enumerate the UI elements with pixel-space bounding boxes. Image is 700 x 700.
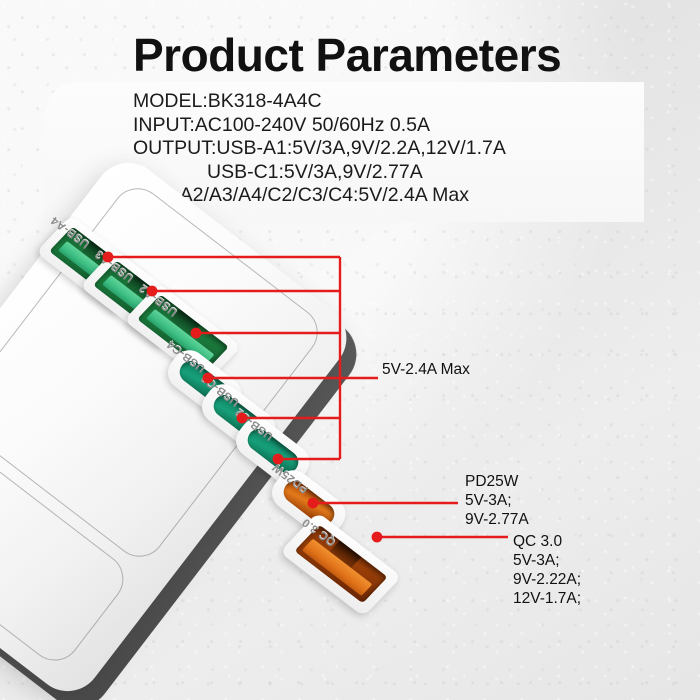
spec-line-model: MODEL:BK318-4A4C [133,90,653,114]
callout-qc30-line-2: 9V-2.22A; [513,570,581,589]
charger-device: USB-A4 USB-A3 USB-A2 USB-C4 USB-C3 USB-C… [0,190,700,700]
callout-pd25w: PD25W 5V-3A; 9V-2.77A [465,472,529,529]
callout-shared-max-line: 5V-2.4A Max [382,360,470,379]
callout-pd25w-line-2: 9V-2.77A [465,510,529,529]
port-qc30[interactable] [294,525,387,604]
spec-line-output: OUTPUT:USB-A1:5V/3A,9V/2.2A,12V/1.7A [133,137,653,161]
callout-qc30: QC 3.0 5V-3A; 9V-2.22A; 12V-1.7A; [513,532,581,608]
callout-shared-max: 5V-2.4A Max [382,360,470,379]
spec-line-usb-c1: USB-C1:5V/3A,9V/2.77A [133,161,653,185]
page-title: Product Parameters [133,28,561,82]
callout-pd25w-title: PD25W [465,472,529,491]
product-parameters-image: Product Parameters MODEL:BK318-4A4C INPU… [0,0,700,700]
spec-line-input: INPUT:AC100-240V 50/60Hz 0.5A [133,114,653,138]
callout-pd25w-line-1: 5V-3A; [465,491,529,510]
callout-qc30-line-1: 5V-3A; [513,551,581,570]
callout-qc30-title: QC 3.0 [513,532,581,551]
callout-qc30-line-3: 12V-1.7A; [513,589,581,608]
